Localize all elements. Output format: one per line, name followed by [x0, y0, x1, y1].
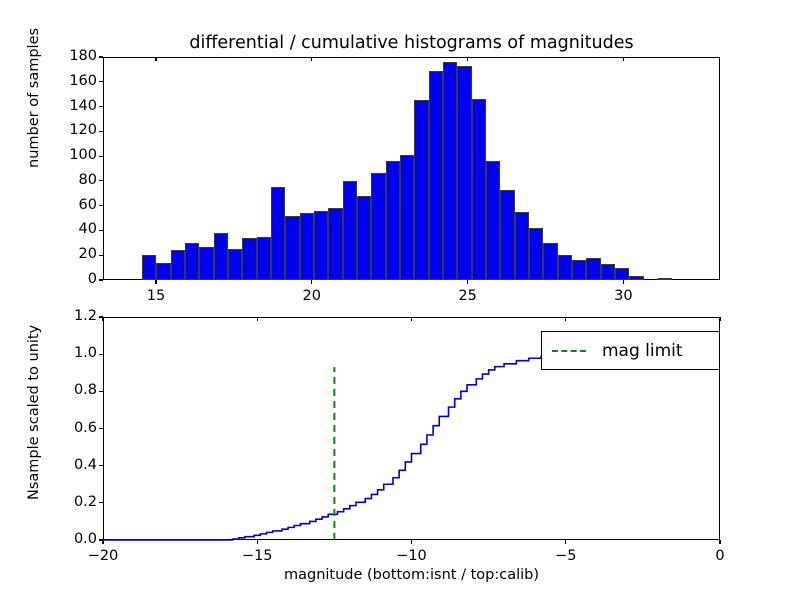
- legend: mag limit: [541, 331, 720, 370]
- figure-canvas: differential / cumulative histograms of …: [0, 0, 800, 600]
- mag-limit-swatch-icon: [552, 350, 586, 352]
- cumulative-curve-layer: [0, 0, 800, 600]
- cumulative-step-curve: [103, 354, 720, 540]
- legend-label-mag-limit: mag limit: [602, 341, 683, 361]
